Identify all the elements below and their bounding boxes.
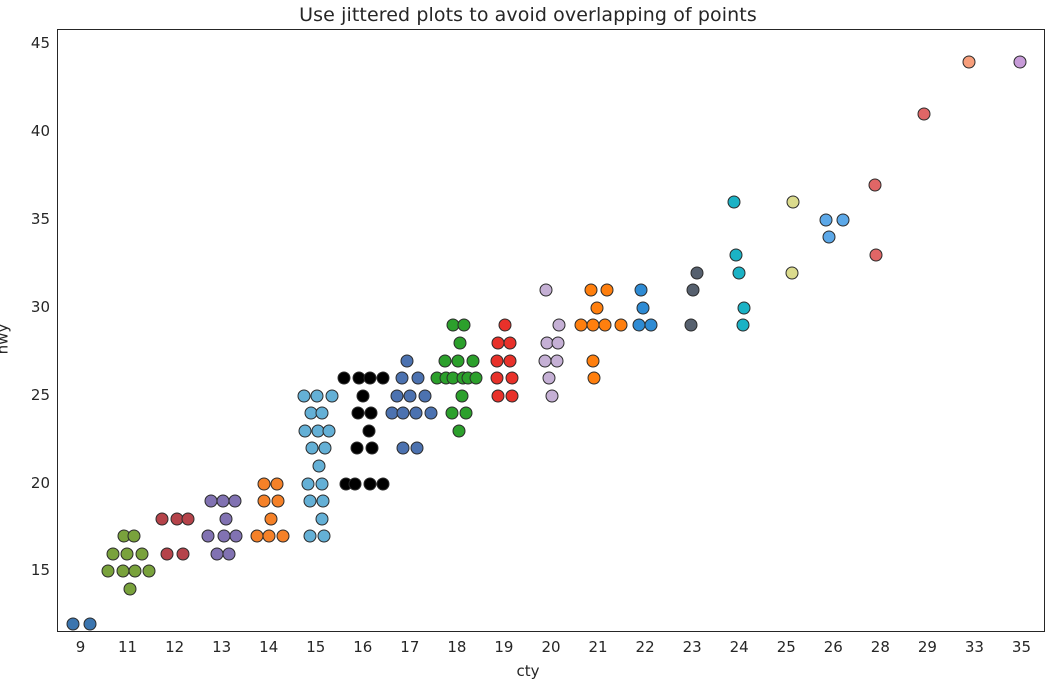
data-point [786,266,799,279]
data-point [299,424,312,437]
data-point [506,372,519,385]
data-point [365,442,378,455]
data-point [542,372,555,385]
data-point [349,477,362,490]
data-point [304,495,317,508]
data-point [598,319,611,332]
data-point [491,372,504,385]
data-point [272,495,285,508]
data-point [686,284,699,297]
x-tick-label: 28 [871,638,890,656]
data-point [587,354,600,367]
data-point [498,319,511,332]
data-point [323,424,336,437]
data-point [316,407,329,420]
x-tick-label: 29 [918,638,937,656]
data-point [585,284,598,297]
data-point [351,407,364,420]
x-tick-label: 13 [212,638,231,656]
data-point [351,442,364,455]
data-point [202,530,215,543]
data-point [466,354,479,367]
data-point [305,442,318,455]
data-point [410,407,423,420]
data-point [217,495,230,508]
data-point [453,336,466,349]
data-point [458,319,471,332]
x-tick-label: 11 [118,638,137,656]
data-point [230,530,243,543]
data-point [229,495,242,508]
data-point [634,284,647,297]
data-point [551,354,564,367]
data-point [644,319,657,332]
data-point [1013,55,1026,68]
x-tick-label: 12 [165,638,184,656]
data-point [401,354,414,367]
x-tick-label: 33 [965,638,984,656]
data-point [438,354,451,367]
data-point [690,266,703,279]
data-point [411,442,424,455]
x-tick-label: 23 [683,638,702,656]
data-point [376,372,389,385]
x-tick-label: 9 [76,638,86,656]
data-point [298,389,311,402]
data-point [262,530,275,543]
data-point [396,407,409,420]
data-point [504,354,517,367]
chart-title: Use jittered plots to avoid overlapping … [0,4,1056,26]
data-point [143,565,156,578]
y-tick-label: 35 [11,210,57,228]
x-axis-title: cty [0,662,1056,680]
data-point [504,336,517,349]
x-tick-label: 14 [259,638,278,656]
data-point [727,196,740,209]
data-point [107,547,120,560]
y-tick-label: 40 [11,122,57,140]
data-point [918,108,931,121]
data-point [204,495,217,508]
y-tick-label: 45 [11,34,57,52]
data-point [733,266,746,279]
x-tick-label: 22 [636,638,655,656]
data-point [161,547,174,560]
data-point [218,530,231,543]
data-point [836,213,849,226]
plot-area [57,29,1045,632]
data-point [357,389,370,402]
data-point [318,442,331,455]
x-tick-label: 16 [353,638,372,656]
data-point [302,477,315,490]
data-point [83,618,96,631]
data-point [551,336,564,349]
data-points-layer [58,30,1044,631]
data-point [787,196,800,209]
data-point [364,407,377,420]
y-axis-title: hwy [0,324,11,355]
scatter-plot-figure: Use jittered plots to avoid overlapping … [0,0,1056,691]
data-point [396,372,409,385]
data-point [222,547,235,560]
x-tick-label: 25 [777,638,796,656]
data-point [412,372,425,385]
data-point [257,477,270,490]
x-tick-label: 19 [494,638,513,656]
data-point [637,301,650,314]
x-tick-label: 21 [589,638,608,656]
data-point [376,477,389,490]
data-point [419,389,432,402]
data-point [304,530,317,543]
data-point [182,512,195,525]
data-point [316,477,329,490]
data-point [128,565,141,578]
data-point [317,530,330,543]
data-point [684,319,697,332]
data-point [738,301,751,314]
data-point [730,249,743,262]
data-point [315,512,328,525]
x-tick-label: 20 [541,638,560,656]
data-point [492,336,505,349]
y-tick-label: 15 [11,561,57,579]
data-point [586,319,599,332]
data-point [397,442,410,455]
x-tick-label: 26 [824,638,843,656]
data-point [363,477,376,490]
data-point [363,424,376,437]
data-point [313,459,326,472]
data-point [869,249,882,262]
data-point [505,389,518,402]
y-tick-label: 20 [11,474,57,492]
data-point [453,424,466,437]
data-point [156,512,169,525]
data-point [316,495,329,508]
data-point [391,389,404,402]
data-point [270,477,283,490]
x-tick-label: 18 [447,638,466,656]
data-point [310,389,323,402]
data-point [124,583,137,596]
data-point [456,389,469,402]
x-tick-label: 35 [1012,638,1031,656]
data-point [276,530,289,543]
data-point [588,372,601,385]
data-point [445,407,458,420]
data-point [121,547,134,560]
data-point [614,319,627,332]
y-tick-label: 30 [11,298,57,316]
data-point [424,407,437,420]
data-point [337,372,350,385]
data-point [265,512,278,525]
data-point [102,565,115,578]
data-point [823,231,836,244]
data-point [404,389,417,402]
data-point [451,354,464,367]
data-point [220,512,233,525]
data-point [177,547,190,560]
data-point [135,547,148,560]
data-point [963,55,976,68]
data-point [545,389,558,402]
data-point [491,354,504,367]
data-point [601,284,614,297]
data-point [258,495,271,508]
x-tick-label: 24 [730,638,749,656]
data-point [538,354,551,367]
data-point [492,389,505,402]
data-point [632,319,645,332]
data-point [540,284,553,297]
data-point [820,213,833,226]
data-point [737,319,750,332]
data-point [574,319,587,332]
data-point [67,618,80,631]
data-point [590,301,603,314]
data-point [469,372,482,385]
data-point [869,178,882,191]
data-point [128,530,141,543]
data-point [364,372,377,385]
data-point [552,319,565,332]
y-axis: hwy 15202530354045 [0,0,57,691]
data-point [459,407,472,420]
data-point [325,389,338,402]
y-tick-label: 25 [11,386,57,404]
x-tick-label: 17 [400,638,419,656]
x-tick-label: 15 [306,638,325,656]
